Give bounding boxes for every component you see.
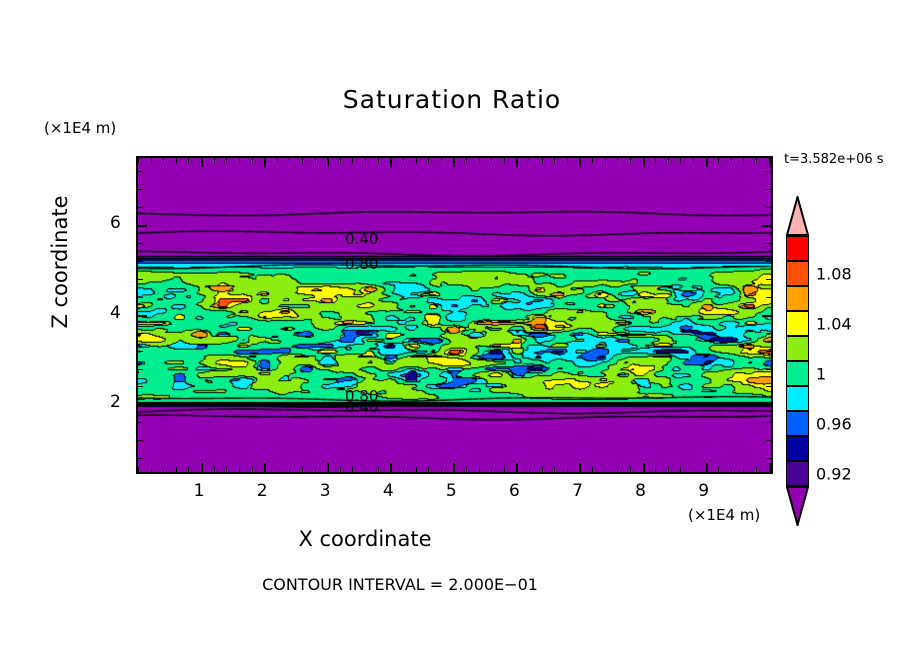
tick-mark — [766, 369, 771, 370]
tick-mark — [138, 369, 143, 370]
colorbar-band — [786, 311, 809, 336]
tick-mark — [151, 158, 152, 163]
tick-mark — [441, 158, 442, 163]
tick-mark — [769, 463, 771, 472]
tick-mark — [138, 351, 143, 352]
tick-mark — [592, 467, 593, 472]
colorbar-band — [786, 386, 809, 411]
tick-mark — [252, 467, 253, 472]
tick-mark — [453, 463, 455, 472]
colorbar-tick-label: 0.96 — [816, 414, 852, 433]
tick-mark — [630, 467, 631, 472]
tick-mark — [743, 158, 744, 163]
tick-mark — [706, 463, 708, 472]
tick-mark — [163, 467, 164, 472]
tick-mark — [138, 467, 139, 472]
tick-mark — [416, 158, 417, 163]
x-tick-label: 1 — [194, 481, 205, 501]
tick-mark — [340, 158, 341, 163]
y-axis-unit-label: (×1E4 m) — [44, 119, 116, 137]
contour-field-canvas — [138, 158, 771, 472]
tick-mark — [327, 463, 329, 472]
tick-mark — [655, 158, 656, 163]
tick-mark — [769, 158, 771, 167]
x-tick-label: 7 — [572, 481, 583, 501]
tick-mark — [201, 463, 203, 472]
tick-mark — [766, 422, 771, 423]
tick-mark — [766, 261, 771, 262]
tick-mark — [668, 158, 669, 163]
tick-mark — [277, 467, 278, 472]
x-tick-label: 9 — [698, 481, 709, 501]
tick-mark — [529, 467, 530, 472]
tick-mark — [766, 171, 771, 172]
tick-mark — [617, 467, 618, 472]
tick-mark — [542, 158, 543, 163]
tick-mark — [731, 158, 732, 163]
tick-mark — [151, 467, 152, 472]
colorbar-under-arrow — [786, 486, 809, 526]
tick-mark — [138, 261, 143, 262]
tick-mark — [138, 158, 139, 163]
tick-mark — [762, 225, 771, 227]
tick-mark — [766, 279, 771, 280]
colorbar-band — [786, 361, 809, 386]
tick-mark — [766, 189, 771, 190]
tick-mark — [252, 158, 253, 163]
tick-mark — [138, 171, 143, 172]
tick-mark — [365, 467, 366, 472]
tick-mark — [390, 158, 392, 167]
tick-mark — [466, 467, 467, 472]
colorbar-band — [786, 461, 809, 486]
tick-mark — [289, 467, 290, 472]
tick-mark — [668, 467, 669, 472]
tick-mark — [214, 158, 215, 163]
tick-mark — [340, 467, 341, 472]
x-tick-label: 5 — [446, 481, 457, 501]
tick-mark — [264, 463, 266, 472]
tick-mark — [226, 158, 227, 163]
tick-mark — [239, 158, 240, 163]
colorbar: 1.081.0410.960.92 — [786, 196, 809, 526]
tick-mark — [693, 158, 694, 163]
tick-mark — [554, 467, 555, 472]
tick-mark — [718, 158, 719, 163]
tick-mark — [516, 158, 518, 167]
colorbar-tick-label: 0.92 — [816, 464, 852, 483]
tick-mark — [176, 158, 177, 163]
tick-mark — [277, 158, 278, 163]
tick-mark — [766, 386, 771, 387]
x-tick-label: 8 — [635, 481, 646, 501]
tick-mark — [743, 467, 744, 472]
tick-mark — [176, 467, 177, 472]
tick-mark — [766, 458, 771, 459]
x-tick-label: 6 — [509, 481, 520, 501]
tick-mark — [655, 467, 656, 472]
page-title: Saturation Ratio — [0, 85, 904, 114]
tick-mark — [239, 467, 240, 472]
colorbar-tick-label: 1.08 — [816, 264, 852, 283]
y-tick-label: 4 — [110, 303, 121, 323]
tick-mark — [479, 467, 480, 472]
tick-mark — [428, 467, 429, 472]
contour-label: 0.40 — [345, 398, 378, 416]
contour-label: 0.40 — [345, 230, 378, 248]
tick-mark — [138, 207, 143, 208]
tick-mark — [756, 467, 757, 472]
tick-mark — [731, 467, 732, 472]
tick-mark — [680, 158, 681, 163]
tick-mark — [378, 467, 379, 472]
tick-mark — [605, 158, 606, 163]
tick-mark — [643, 158, 645, 167]
tick-mark — [766, 297, 771, 298]
colorbar-band — [786, 411, 809, 436]
tick-mark — [138, 458, 143, 459]
tick-mark — [441, 467, 442, 472]
tick-mark — [718, 467, 719, 472]
y-tick-label: 6 — [110, 213, 121, 233]
tick-mark — [542, 467, 543, 472]
tick-mark — [504, 467, 505, 472]
colorbar-tick-label: 1.04 — [816, 314, 852, 333]
tick-mark — [416, 467, 417, 472]
tick-mark — [766, 207, 771, 208]
tick-mark — [516, 463, 518, 472]
colorbar-band — [786, 261, 809, 286]
colorbar-band — [786, 286, 809, 311]
tick-mark — [138, 279, 143, 280]
tick-mark — [188, 467, 189, 472]
tick-mark — [315, 467, 316, 472]
tick-mark — [630, 158, 631, 163]
tick-mark — [766, 243, 771, 244]
y-axis-title: Z coordinate — [48, 162, 72, 362]
tick-mark — [138, 333, 143, 334]
tick-mark — [766, 351, 771, 352]
tick-mark — [605, 467, 606, 472]
x-axis-unit-label: (×1E4 m) — [688, 506, 760, 524]
contour-label: 0.80 — [345, 255, 378, 273]
tick-mark — [214, 467, 215, 472]
x-tick-label: 3 — [320, 481, 331, 501]
tick-mark — [226, 467, 227, 472]
tick-mark — [327, 158, 329, 167]
tick-mark — [762, 315, 771, 317]
tick-mark — [163, 158, 164, 163]
colorbar-band — [786, 336, 809, 361]
tick-mark — [766, 440, 771, 441]
tick-mark — [138, 386, 143, 387]
colorbar-band — [786, 436, 809, 461]
tick-mark — [453, 158, 455, 167]
tick-mark — [138, 189, 143, 190]
tick-mark — [766, 333, 771, 334]
tick-mark — [403, 467, 404, 472]
tick-mark — [756, 158, 757, 163]
tick-mark — [579, 158, 581, 167]
tick-mark — [491, 158, 492, 163]
contour-interval-note: CONTOUR INTERVAL = 2.000E−01 — [0, 575, 800, 594]
tick-mark — [567, 467, 568, 472]
tick-mark — [365, 158, 366, 163]
tick-mark — [138, 315, 147, 317]
tick-mark — [352, 467, 353, 472]
tick-mark — [138, 243, 143, 244]
tick-mark — [315, 158, 316, 163]
tick-mark — [352, 158, 353, 163]
tick-mark — [390, 463, 392, 472]
tick-mark — [579, 463, 581, 472]
x-tick-label: 2 — [257, 481, 268, 501]
tick-mark — [378, 158, 379, 163]
tick-mark — [428, 158, 429, 163]
tick-mark — [504, 158, 505, 163]
tick-mark — [693, 467, 694, 472]
tick-mark — [680, 467, 681, 472]
tick-mark — [762, 404, 771, 406]
tick-mark — [643, 463, 645, 472]
tick-mark — [302, 467, 303, 472]
tick-mark — [403, 158, 404, 163]
tick-mark — [617, 158, 618, 163]
tick-mark — [706, 158, 708, 167]
tick-mark — [138, 297, 143, 298]
contour-plot-area — [136, 156, 773, 474]
time-annotation: t=3.582e+06 s — [784, 152, 884, 167]
tick-mark — [201, 158, 203, 167]
y-tick-label: 2 — [110, 392, 121, 412]
tick-mark — [138, 440, 143, 441]
tick-mark — [138, 422, 143, 423]
colorbar-tick-label: 1 — [816, 364, 826, 383]
tick-mark — [592, 158, 593, 163]
tick-mark — [188, 158, 189, 163]
tick-mark — [554, 158, 555, 163]
tick-mark — [567, 158, 568, 163]
x-axis-title: X coordinate — [0, 527, 730, 551]
tick-mark — [302, 158, 303, 163]
colorbar-over-arrow — [786, 196, 809, 236]
tick-mark — [491, 467, 492, 472]
colorbar-band — [786, 236, 809, 261]
tick-mark — [529, 158, 530, 163]
tick-mark — [264, 158, 266, 167]
x-tick-label: 4 — [383, 481, 394, 501]
tick-mark — [466, 158, 467, 163]
tick-mark — [289, 158, 290, 163]
tick-mark — [138, 225, 147, 227]
tick-mark — [138, 404, 147, 406]
tick-mark — [479, 158, 480, 163]
